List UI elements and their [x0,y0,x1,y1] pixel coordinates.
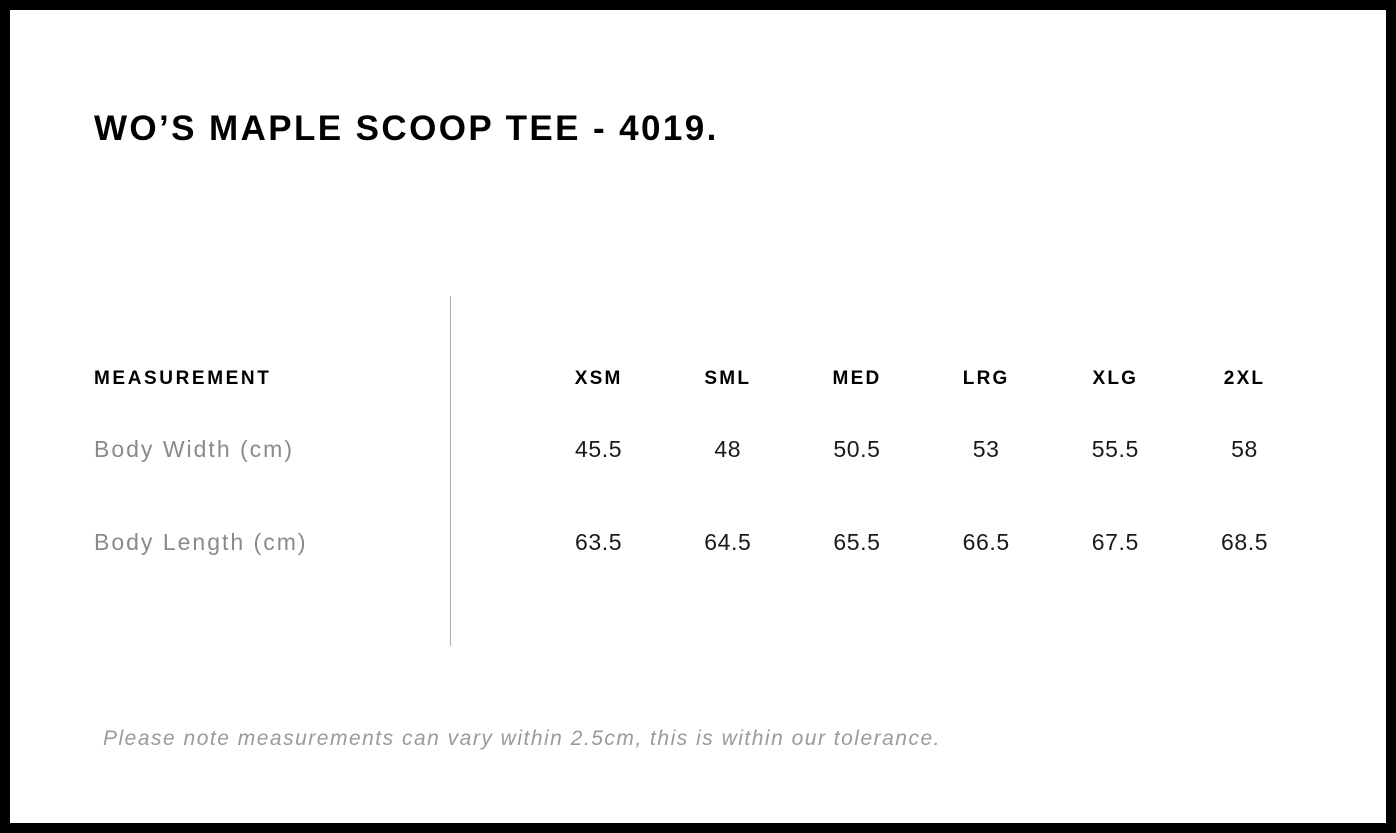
table-row: Body Length (cm) 63.5 64.5 65.5 66.5 67.… [94,496,1309,589]
cell-body-width-xlg: 55.5 [1051,403,1180,496]
column-header-xlg: XLG [1051,355,1180,403]
table-header-row: MEASUREMENT XSM SML MED LRG XLG 2XL [94,355,1309,403]
page-title: WO’S MAPLE SCOOP TEE - 4019. [94,108,719,150]
table-row: Body Width (cm) 45.5 48 50.5 53 55.5 58 [94,403,1309,496]
cell-body-length-lrg: 66.5 [922,496,1051,589]
column-header-sml: SML [663,355,792,403]
size-chart-content: WO’S MAPLE SCOOP TEE - 4019. MEASUREMENT… [10,10,1386,823]
cell-body-length-xlg: 67.5 [1051,496,1180,589]
size-chart-table: MEASUREMENT XSM SML MED LRG XLG 2XL Body… [94,355,1309,589]
cell-body-length-2xl: 68.5 [1180,496,1309,589]
tolerance-footnote: Please note measurements can vary within… [103,727,941,751]
cell-body-width-xsm: 45.5 [534,403,663,496]
cell-body-width-2xl: 58 [1180,403,1309,496]
column-header-lrg: LRG [922,355,1051,403]
cell-body-length-sml: 64.5 [663,496,792,589]
size-chart-frame: WO’S MAPLE SCOOP TEE - 4019. MEASUREMENT… [0,0,1396,833]
cell-body-length-xsm: 63.5 [534,496,663,589]
cell-body-width-lrg: 53 [922,403,1051,496]
column-header-xsm: XSM [534,355,663,403]
column-header-2xl: 2XL [1180,355,1309,403]
column-header-measurement: MEASUREMENT [94,355,534,403]
cell-body-length-med: 65.5 [792,496,921,589]
table-body: Body Width (cm) 45.5 48 50.5 53 55.5 58 … [94,403,1309,589]
cell-body-width-sml: 48 [663,403,792,496]
table-header: MEASUREMENT XSM SML MED LRG XLG 2XL [94,355,1309,403]
row-label-body-width: Body Width (cm) [94,403,534,496]
row-label-body-length: Body Length (cm) [94,496,534,589]
column-header-med: MED [792,355,921,403]
cell-body-width-med: 50.5 [792,403,921,496]
